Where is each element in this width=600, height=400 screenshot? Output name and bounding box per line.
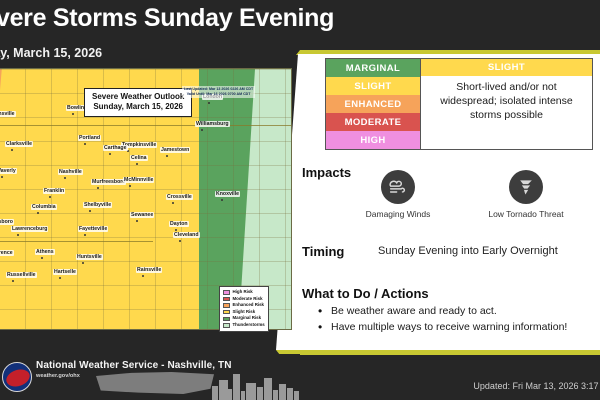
risk-detail: SLIGHT Short-lived and/or not widespread… [420,59,592,149]
map-city-label: Fayetteville [78,226,108,232]
risk-level-list: MARGINAL SLIGHT ENHANCED MODERATE HIGH [326,59,420,149]
skyline-building [233,374,240,400]
legend-swatch [223,310,230,314]
map-timestamp: Last Updated: Mar 13 2026 0226 AM CDT Va… [182,86,255,98]
tornado-icon [509,170,543,204]
legend-swatch [223,323,230,327]
legend-swatch [223,303,230,307]
map-city-label: Portland [78,135,101,141]
office-name: National Weather Service - Nashville, TN [36,360,232,371]
map-legend: High RiskModerate RiskEnhanced RiskSligh… [219,286,269,332]
risk-detail-description: Short-lived and/or not widespread; isola… [421,76,592,149]
page-title: Severe Storms Sunday Evening [0,4,334,33]
risk-scale: MARGINAL SLIGHT ENHANCED MODERATE HIGH S… [325,58,593,150]
state-border-ky-tn [0,125,291,126]
skyline-building [212,386,218,400]
map-city-label: Columbia [31,204,57,210]
map-city-label: Russellville [6,272,37,278]
map-city-label: Rainsville [136,267,162,273]
impact-caption: Damaging Winds [352,209,444,219]
impact-low-tornado-threat: Low Tornado Threat [480,170,572,219]
risk-level-marginal[interactable]: MARGINAL [326,59,420,77]
legend-label: High Risk [233,289,253,296]
timing-heading: Timing [302,244,344,259]
actions-list: Be weather aware and ready to act. Have … [318,303,600,336]
weather-graphic: Severe Storms Sunday Evening Sunday, Mar… [0,0,600,400]
impact-damaging-winds: Damaging Winds [352,170,444,219]
legend-swatch [223,317,230,321]
skyline-building [294,391,299,400]
map-city-label: Clarksville [5,141,33,147]
map-city-label: Sewanee [130,212,154,218]
skyline-building [246,383,256,400]
map-city-label: Williamsburg [195,121,230,127]
map-city-label: Franklin [43,188,65,194]
map-city-label: Knoxville [215,191,240,197]
map-city-label: Shelbyville [83,202,112,208]
map-city-label: Huntsville [76,254,103,260]
skyline-building [241,391,245,400]
map-city-label: Cleveland [173,232,200,238]
map-city-label: Murfreesboro [91,179,126,185]
legend-row: Slight Risk [223,309,265,316]
action-item: Have multiple ways to receive warning in… [318,319,600,335]
legend-label: Moderate Risk [233,296,263,303]
legend-swatch [223,297,230,301]
impacts-heading: Impacts [302,165,351,180]
legend-row: Thunderstorms [223,322,265,329]
risk-level-slight[interactable]: SLIGHT [326,77,420,95]
skyline-building [227,389,232,400]
legend-row: Enhanced Risk [223,302,265,309]
wind-cloud-icon [381,170,415,204]
map-city-label: Nashville [58,169,83,175]
skyline-building [273,390,278,400]
legend-swatch [223,290,230,294]
map-city-label: Dayton [169,221,189,227]
risk-level-high[interactable]: HIGH [326,131,420,149]
risk-detail-title: SLIGHT [421,59,592,76]
map-city-label: Florence [0,250,14,256]
legend-label: Thunderstorms [233,322,265,329]
legend-row: High Risk [223,289,265,296]
skyline-building [257,387,263,400]
nws-logo-icon [2,362,32,392]
updated-timestamp: Updated: Fri Mar 13, 2026 3:17 AM [473,381,600,391]
map-city-label: Jamestown [160,147,190,153]
skyline-building [279,384,286,400]
map-title-line2: Sunday, March 15, 2026 [92,102,184,112]
legend-label: Slight Risk [233,309,256,316]
skyline-building [264,378,272,400]
panel-accent-stripe-bottom [276,350,600,355]
legend-row: Moderate Risk [223,296,265,303]
map-city-label: McMinnville [123,177,154,183]
legend-row: Marginal Risk [223,315,265,322]
map-city-label: Hopkinsville [0,111,16,117]
action-item: Be weather aware and ready to act. [318,303,600,319]
map-title-box: Severe Weather Outlook Sunday, March 15,… [84,88,192,117]
map-city-label: Waynesboro [0,219,14,225]
impacts-row: Damaging Winds Low Tornado Threat [352,170,572,219]
map-valid-until: Valid Until: Mar 16 2026 0700 AM CDT [184,92,253,97]
impact-caption: Low Tornado Threat [480,209,572,219]
state-border-tn-al [0,241,153,242]
timing-value: Sunday Evening into Early Overnight [378,245,558,257]
skyline-building [287,388,293,400]
map-city-label: Lawrenceburg [11,226,48,232]
map-city-label: Crossville [166,194,193,200]
tennessee-outline-icon [96,372,214,394]
legend-label: Enhanced Risk [233,302,264,309]
map-city-label: Carthage [103,145,128,151]
map-city-label: Hartselle [53,269,77,275]
map-city-label: Waverly [0,168,17,174]
map-city-label: Athens [35,249,55,255]
risk-level-enhanced[interactable]: ENHANCED [326,95,420,113]
map-city-label: Celina [130,155,148,161]
page-subtitle: Sunday, March 15, 2026 [0,46,102,60]
office-url: weather.gov/ohx [36,373,80,379]
risk-level-moderate[interactable]: MODERATE [326,113,420,131]
footer: National Weather Service - Nashville, TN… [0,354,300,400]
map-title-line1: Severe Weather Outlook [92,92,184,102]
actions-heading: What to Do / Actions [302,286,429,301]
legend-label: Marginal Risk [233,315,262,322]
